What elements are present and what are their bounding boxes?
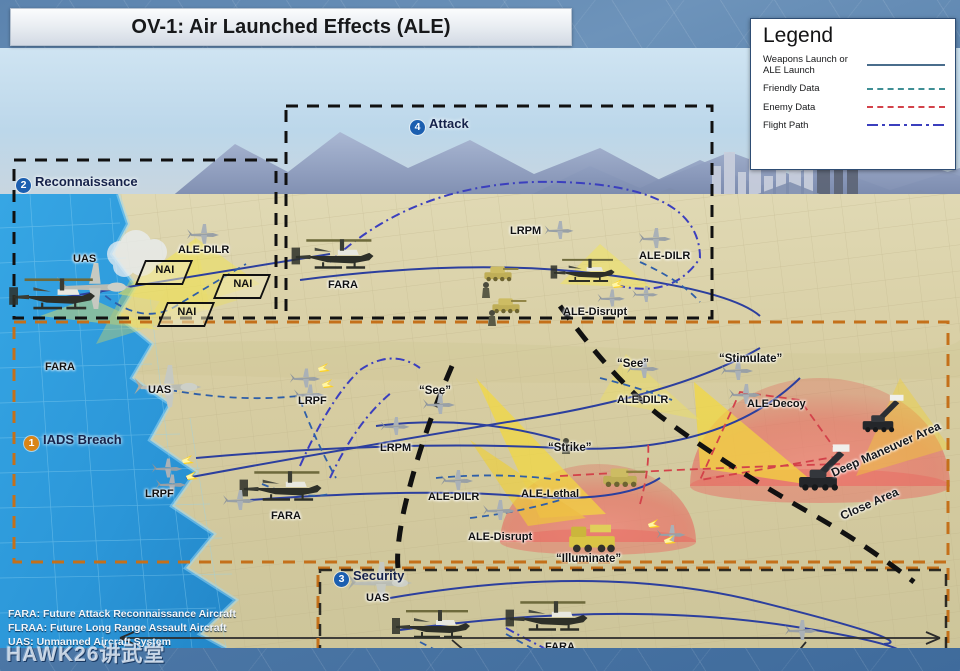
legend-heading: Legend xyxy=(763,25,945,46)
fara-icon xyxy=(9,278,95,308)
legend-label-enemy-data: Enemy Data xyxy=(763,102,867,113)
asset-label-lrpm: LRPM xyxy=(380,442,411,454)
asset-label-lrpm: LRPM xyxy=(510,225,541,237)
enemy-vehicle-icon xyxy=(603,469,645,487)
nai-label: NAI xyxy=(143,262,187,279)
asset-label-ale-dilr: ALE-DILR xyxy=(639,250,690,262)
fara-icon xyxy=(292,239,374,267)
slide-canvas: OV-1: Air Launched Effects (ALE) xyxy=(0,0,960,671)
ale-dilr-icon xyxy=(441,470,473,490)
ale-disrupt-icon xyxy=(483,500,515,520)
phase-label-iads-breach: 1IADS Breach xyxy=(24,432,122,451)
phase-label-security: 3Security xyxy=(334,568,404,587)
phase-text-attack: Attack xyxy=(429,116,469,131)
legend-swatch-flight-path xyxy=(867,120,945,130)
phase-text-reconnaissance: Reconnaissance xyxy=(35,174,138,189)
phase-label-reconnaissance: 2Reconnaissance xyxy=(16,174,138,193)
watermark: HAWK26讲武堂 xyxy=(6,638,166,668)
effect-label-see: “See” xyxy=(617,358,649,370)
asset-label-fara: FARA xyxy=(45,361,75,373)
fara-icon xyxy=(506,601,588,629)
nai-box: NAI xyxy=(157,302,215,327)
page-title-text: OV-1: Air Launched Effects (ALE) xyxy=(131,16,450,39)
legend-label-friendly-data: Friendly Data xyxy=(763,83,867,94)
ale-dilr-icon xyxy=(187,224,219,244)
ale-icon xyxy=(223,490,255,510)
enemy-radar-icon xyxy=(863,395,904,432)
asset-label-uas: UAS xyxy=(366,592,389,604)
weapon-flash-icon xyxy=(318,363,330,372)
legend-item-friendly-data: Friendly Data xyxy=(763,83,945,94)
phase-label-attack: 4Attack xyxy=(410,116,469,135)
legend-swatch-friendly-data xyxy=(867,84,945,94)
enemy-dismount-icon xyxy=(488,310,496,326)
lrpf-icon xyxy=(152,459,182,478)
asset-label-ale-disrupt: ALE-Disrupt xyxy=(563,306,627,318)
legend-label-weapons-launch: Weapons Launch or ALE Launch xyxy=(763,54,867,76)
nai-label: NAI xyxy=(165,304,209,321)
legend-label-flight-path: Flight Path xyxy=(763,120,867,131)
phase-number-1: 1 xyxy=(24,436,39,451)
weapon-flash-icon xyxy=(186,471,198,480)
legend-item-flight-path: Flight Path xyxy=(763,120,945,131)
nai-box: NAI xyxy=(135,260,193,285)
lrpm-icon xyxy=(381,417,410,435)
flraa-icon xyxy=(392,610,470,637)
enemy-heli-icon xyxy=(551,259,615,281)
acronym-flraa: FLRAA: Future Long Range Assault Aircraf… xyxy=(8,621,236,635)
phase-text-security: Security xyxy=(353,568,404,583)
decoy-icon xyxy=(785,620,817,640)
asset-label-fara: FARA xyxy=(328,279,358,291)
ale-dilr-icon xyxy=(639,228,671,248)
lrpm-icon xyxy=(545,221,574,239)
nai-label: NAI xyxy=(221,276,265,293)
legend-rows: Weapons Launch or ALE LaunchFriendly Dat… xyxy=(763,54,945,131)
acronym-fara: FARA: Future Attack Reconnaissance Aircr… xyxy=(8,607,236,621)
page-title: OV-1: Air Launched Effects (ALE) xyxy=(10,8,572,46)
enemy-launcher-icon xyxy=(569,525,615,553)
ale-lethal-icon xyxy=(657,525,686,543)
phase-text-iads-breach: IADS Breach xyxy=(43,432,122,447)
nai-box: NAI xyxy=(213,274,271,299)
asset-label-ale-decoy: ALE-Decoy xyxy=(747,398,806,410)
weapon-flash-icon xyxy=(322,379,334,388)
asset-label-ale-dilr: ALE-DILR xyxy=(428,491,479,503)
ale-disrupt-icon xyxy=(632,286,658,302)
ale-dilr-icon xyxy=(423,394,455,414)
asset-label-fara: FARA xyxy=(545,641,575,648)
weapon-flash-icon xyxy=(612,279,624,288)
legend-item-weapons-launch: Weapons Launch or ALE Launch xyxy=(763,54,945,76)
legend-panel: Legend Weapons Launch or ALE LaunchFrien… xyxy=(750,18,956,170)
asset-label-ale-disrupt: ALE-Disrupt xyxy=(468,531,532,543)
effect-label-see: “See” xyxy=(419,385,451,397)
asset-label-uas: UAS xyxy=(148,384,171,396)
phase-number-3: 3 xyxy=(334,572,349,587)
lrpf-icon xyxy=(290,369,320,388)
asset-label-fara: FARA xyxy=(271,510,301,522)
enemy-dismount-icon xyxy=(482,282,490,298)
phase-number-2: 2 xyxy=(16,178,31,193)
asset-label-ale-dilr: ALE-DILR xyxy=(617,394,668,406)
weapon-flash-icon xyxy=(182,455,194,464)
enemy-vehicle-icon xyxy=(484,266,518,281)
weapon-flash-icon xyxy=(648,519,660,528)
phase-number-4: 4 xyxy=(410,120,425,135)
asset-label-ale-dilr: ALE-DILR xyxy=(178,244,229,256)
legend-swatch-enemy-data xyxy=(867,102,945,112)
legend-item-enemy-data: Enemy Data xyxy=(763,102,945,113)
asset-label-lrpf: LRPF xyxy=(145,488,174,500)
ale-disrupt-icon xyxy=(598,290,625,307)
effect-label-strike: “Strike” xyxy=(548,442,591,454)
effect-label-illuminate: “Illuminate” xyxy=(556,553,621,565)
asset-label-uas: UAS xyxy=(73,253,96,265)
asset-label-lrpf: LRPF xyxy=(298,395,327,407)
enemy-vehicle-icon xyxy=(492,298,526,313)
asset-label-ale-lethal: ALE-Lethal xyxy=(521,488,579,500)
legend-swatch-weapons-launch xyxy=(867,60,945,70)
fara-icon xyxy=(240,471,322,499)
effect-label-stimulate: “Stimulate” xyxy=(719,353,782,365)
